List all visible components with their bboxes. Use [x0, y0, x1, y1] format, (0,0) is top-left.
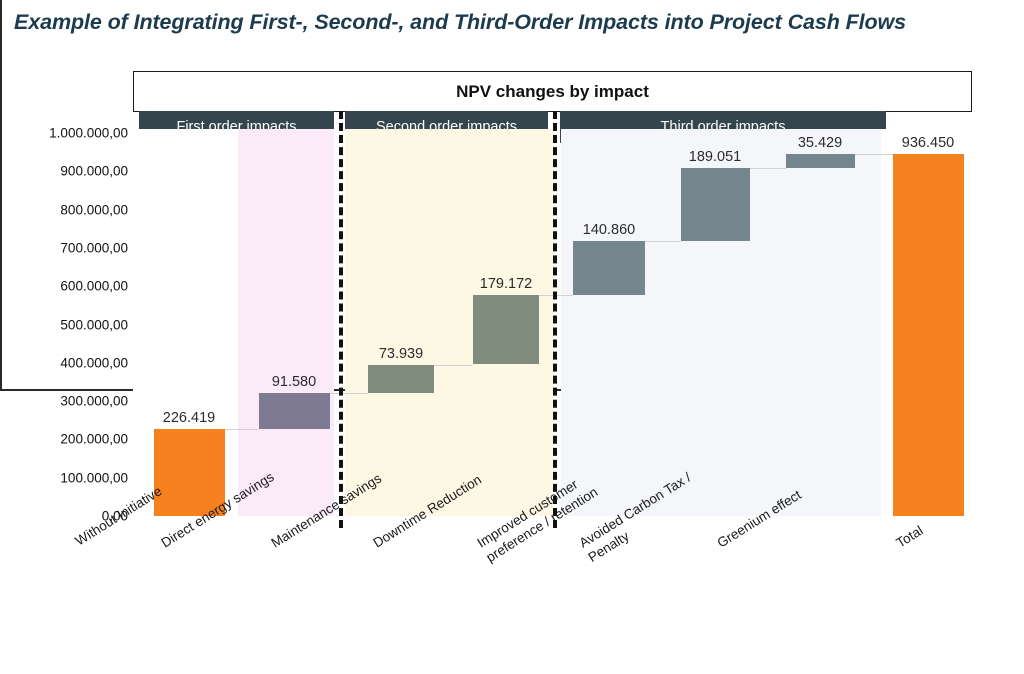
bar-value-label: 226.419	[163, 410, 215, 426]
connector	[330, 393, 368, 394]
y-axis-labels: 1.000.000,00 900.000,00 800.000,00 700.0…	[4, 0, 128, 674]
y-axis-line	[0, 0, 2, 389]
y-tick: 300.000,00	[8, 394, 128, 409]
bar-downtime-reduction[interactable]	[473, 295, 539, 364]
bar-total[interactable]	[893, 154, 964, 516]
y-tick: 200.000,00	[8, 432, 128, 447]
connector	[225, 429, 259, 430]
bar-value-label: 91.580	[272, 374, 316, 390]
connector	[434, 365, 472, 366]
y-tick: 100.000,00	[8, 470, 128, 485]
y-tick: 400.000,00	[8, 355, 128, 370]
bar-value-label: 140.860	[583, 222, 635, 238]
bar-value-label: 73.939	[379, 346, 423, 362]
bar-direct-energy-savings[interactable]	[259, 393, 330, 428]
group-divider-second-third	[553, 111, 557, 528]
y-tick: 800.000,00	[8, 202, 128, 217]
bar-improved-customer-preference[interactable]	[573, 241, 645, 296]
waterfall-chart: NPV changes by impact First order impact…	[0, 0, 1024, 674]
y-tick: 600.000,00	[8, 279, 128, 294]
bar-maintenance-savings[interactable]	[368, 365, 434, 394]
y-tick: 900.000,00	[8, 164, 128, 179]
connector	[855, 154, 893, 155]
y-tick: 500.000,00	[8, 317, 128, 332]
zone-first-order-b	[238, 129, 334, 516]
chart-title: NPV changes by impact	[134, 82, 971, 102]
connector	[645, 241, 681, 242]
bar-value-label: 179.172	[480, 276, 532, 292]
connector	[750, 168, 786, 169]
y-tick: 1.000.000,00	[8, 126, 128, 141]
chart-title-box: NPV changes by impact	[133, 71, 972, 112]
bar-value-label: 189.051	[689, 149, 741, 165]
y-tick: 700.000,00	[8, 240, 128, 255]
group-divider-first-second	[339, 111, 343, 528]
bar-avoided-carbon-tax[interactable]	[681, 168, 750, 241]
bar-value-label: 936.450	[902, 135, 954, 151]
bar-value-label: 35.429	[798, 135, 842, 151]
bar-greenium-effect[interactable]	[786, 154, 855, 168]
category-label-total: Total	[893, 522, 926, 552]
